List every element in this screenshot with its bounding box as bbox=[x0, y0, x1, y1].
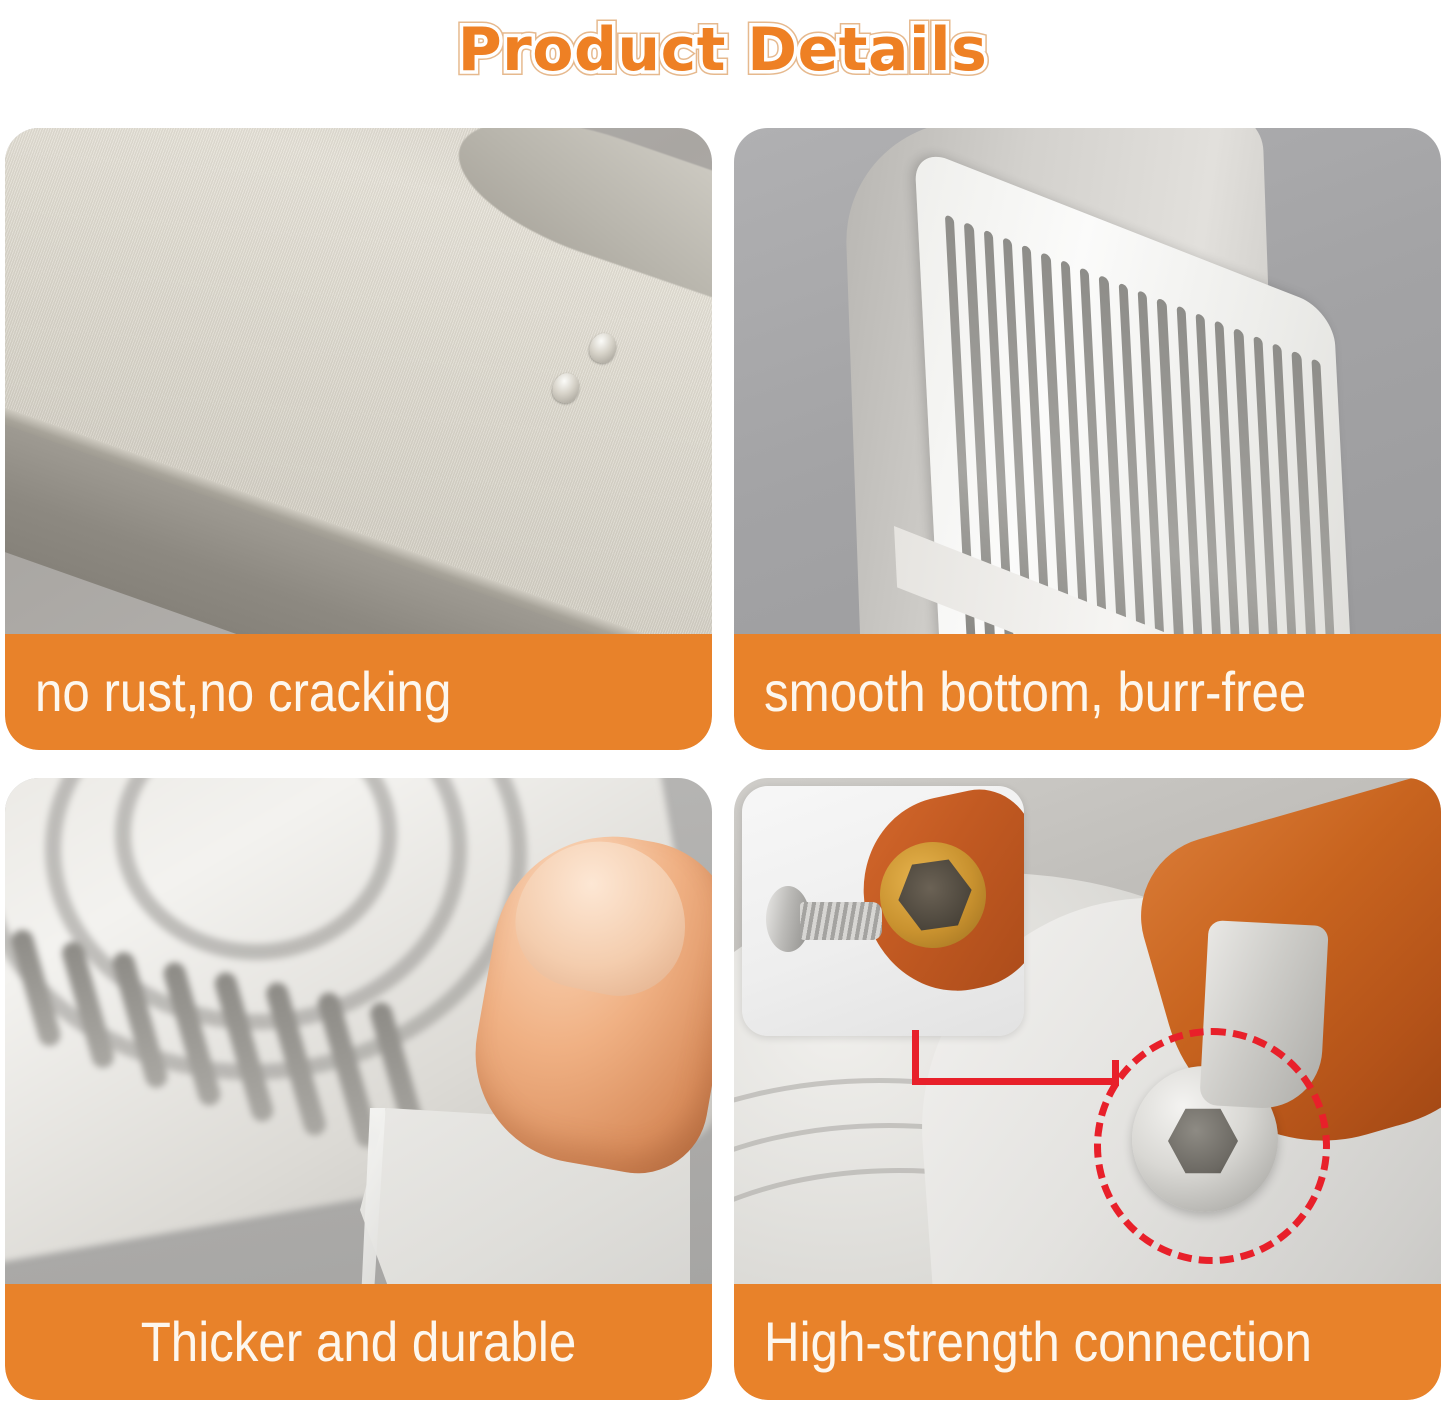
caption-bar-no-rust: no rust,no cracking bbox=[5, 634, 712, 750]
bolt-and-insert-inset bbox=[742, 786, 1024, 1036]
caption-bar-high-strength: High-strength connection bbox=[734, 1284, 1441, 1400]
caption-text-smooth-bottom: smooth bottom, burr-free bbox=[764, 664, 1306, 720]
callout-leader-vertical bbox=[912, 1030, 919, 1085]
product-photo-thumb-on-blade bbox=[5, 778, 712, 1284]
caption-text-high-strength: High-strength connection bbox=[764, 1314, 1312, 1370]
caption-bar-smooth-bottom: smooth bottom, burr-free bbox=[734, 634, 1441, 750]
detail-card-thicker-durable: Thicker and durable bbox=[5, 778, 712, 1400]
caption-bar-thicker-durable: Thicker and durable bbox=[5, 1284, 712, 1400]
detail-card-no-rust: no rust,no cracking bbox=[5, 128, 712, 750]
detail-card-smooth-bottom: smooth bottom, burr-free bbox=[734, 128, 1441, 750]
detail-card-high-strength: High-strength connection bbox=[734, 778, 1441, 1400]
callout-leader-tick bbox=[1112, 1060, 1119, 1086]
metal-handle-tab bbox=[1199, 920, 1329, 1111]
bolt-threaded-shaft bbox=[800, 902, 882, 940]
page-title: Product Details Product Details Product … bbox=[458, 15, 988, 85]
callout-leader-horizontal bbox=[912, 1078, 1117, 1085]
shovel-slot bbox=[1311, 358, 1346, 634]
product-photo-slotted-head bbox=[734, 128, 1441, 634]
page-header: Product Details Product Details Product … bbox=[0, 0, 1445, 96]
caption-text-no-rust: no rust,no cracking bbox=[35, 664, 451, 720]
product-photo-bolt-connection bbox=[734, 778, 1441, 1284]
caption-text-thicker-durable: Thicker and durable bbox=[141, 1314, 577, 1370]
hex-socket-recess bbox=[1168, 1106, 1238, 1176]
product-photo-plate-edge bbox=[5, 128, 712, 634]
page-title-fill: Product Details bbox=[458, 15, 988, 85]
product-details-grid: no rust,no cracking bbox=[5, 128, 1441, 1409]
